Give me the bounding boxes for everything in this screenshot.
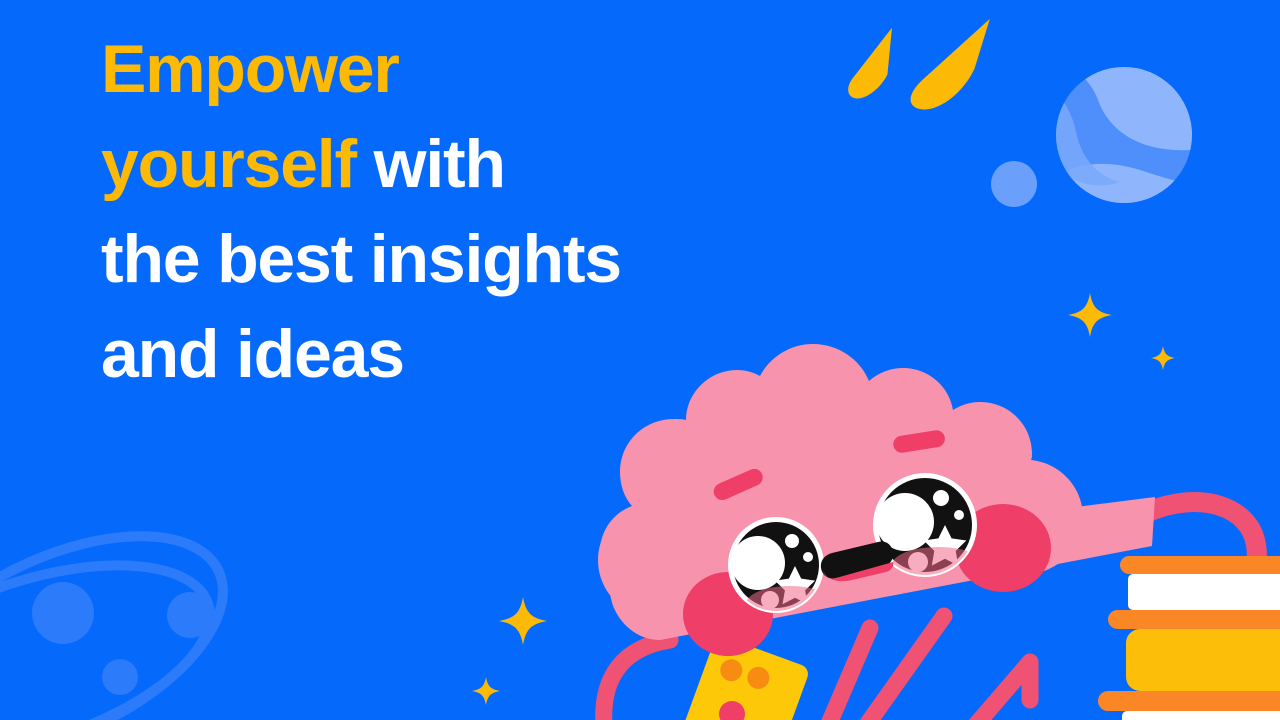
planet — [1042, 60, 1215, 215]
headline-segment-5: the best insights — [101, 221, 621, 297]
book-orange-top — [1120, 556, 1280, 574]
headline-segment-7: and ideas — [101, 316, 404, 392]
headline-segment-2: yourself — [101, 126, 356, 202]
sparkle-bottom-small — [472, 677, 500, 705]
book-white-2 — [1122, 711, 1280, 720]
page-title: Empoweryourself withthe best insightsand… — [101, 22, 801, 402]
orbit-center-dot — [32, 582, 94, 644]
book-white-1 — [1128, 574, 1280, 610]
comet-small — [847, 23, 894, 102]
book-stack — [1098, 556, 1280, 720]
orbit-diagram — [0, 491, 256, 720]
moon-dot — [991, 161, 1037, 207]
headline-segment-3: with — [356, 126, 505, 202]
hero-banner: Empoweryourself withthe best insightsand… — [0, 0, 1280, 720]
book-orange-bottom — [1098, 691, 1280, 711]
book-yellow — [1126, 629, 1280, 691]
sparkle-bottom-large — [499, 597, 547, 645]
book-orange-mid — [1108, 610, 1280, 629]
headline-segment-0: Empower — [101, 31, 399, 107]
orbit-node-upper — [167, 592, 213, 638]
orbit-node-lower — [102, 659, 138, 695]
comet-large — [910, 12, 990, 116]
sparkle-right-large — [1068, 293, 1112, 337]
sparkle-right-small — [1151, 346, 1175, 370]
